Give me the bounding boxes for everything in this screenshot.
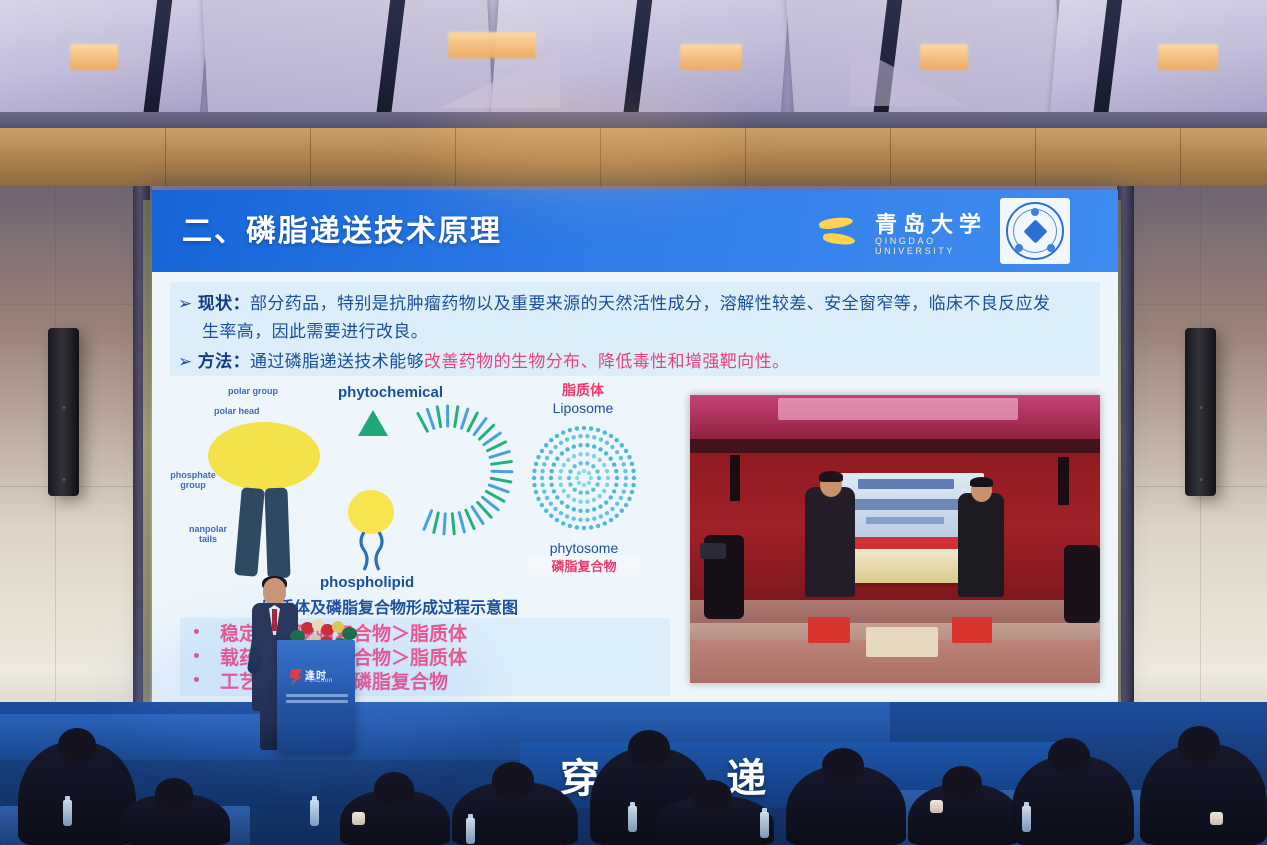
ceiling [0, 0, 1267, 128]
audience-head [58, 728, 96, 762]
university-mark-icon [817, 212, 871, 252]
podium-subtext-1 [286, 694, 348, 697]
label-phytochemical: phytochemical [338, 384, 443, 401]
wood-band [0, 128, 1267, 186]
audience-head [628, 730, 670, 766]
audience-head [1178, 726, 1220, 762]
audience-head [822, 748, 864, 783]
tail-1 [234, 487, 265, 577]
slide-text-panel: ➢ 现状：部分药品，特别是抗肿瘤药物以及重要来源的天然活性成分，溶解性较差、安全… [170, 282, 1100, 376]
text-line-3: ➢ 方法：通过磷脂递送技术能够改善药物的生物分布、降低毒性和增强靶向性。 [178, 347, 789, 372]
gold-trim-left [143, 200, 152, 745]
bilayer-arc-icon [390, 400, 550, 540]
ceremony-photo [690, 395, 1100, 683]
audience-head [492, 762, 534, 798]
label-nonpolar-tails: nanpolar tails [186, 524, 230, 544]
audience-head [942, 766, 982, 800]
label-phosphate-group: phosphate group [168, 470, 218, 490]
liposome-label: 脂质体 Liposome [528, 380, 638, 416]
liposome-vesicle-icon [528, 420, 640, 540]
audience-head [374, 772, 414, 806]
function-swoosh-icon [289, 669, 302, 686]
text-line-2: 生率高，因此需要进行改良。 [202, 317, 428, 342]
tea-cup [930, 800, 943, 813]
podium-brand-en: Function [305, 678, 333, 684]
phospholipid-tails-icon [354, 532, 390, 576]
liposome-en: Liposome [528, 400, 638, 416]
university-logo: 青岛大学 QINGDAO UNIVERSITY [817, 206, 987, 258]
university-name-cn: 青岛大学 [875, 207, 987, 239]
label-polar-head: polar head [214, 406, 260, 416]
polar-head-shape [208, 422, 320, 490]
phytosome-cn: 磷脂复合物 [528, 556, 640, 575]
water-bottle [760, 812, 769, 838]
text-line-1: ➢ 现状：部分药品，特别是抗肿瘤药物以及重要来源的天然活性成分，溶解性较差、安全… [178, 289, 1050, 314]
status-text: 部分药品，特别是抗肿瘤药物以及重要来源的天然活性成分，溶解性较差、安全窗窄等，临… [250, 294, 1050, 313]
loudspeaker-left [48, 328, 79, 496]
liposome-cn: 脂质体 [528, 380, 638, 400]
water-bottle [1022, 806, 1031, 832]
phospholipid-head [348, 490, 394, 534]
water-bottle [310, 800, 319, 826]
water-bottle [63, 800, 72, 826]
method-label: 方法： [198, 352, 250, 371]
podium-subtext-2 [286, 700, 348, 703]
phytosome-label: phytosome 磷脂复合物 [528, 540, 640, 575]
center-emblem-icon [1000, 198, 1070, 264]
diagram-caption: 脂质体及磷脂复合物形成过程示意图 [262, 594, 518, 618]
presenter-tie [272, 609, 277, 631]
audience-head [1048, 738, 1090, 774]
method-highlight: 改善药物的生物分布、降低毒性和增强靶向性。 [424, 352, 789, 371]
status-label: 现状： [198, 294, 250, 313]
presenter-head [263, 578, 286, 605]
tea-cup [1210, 812, 1223, 825]
university-name-en: QINGDAO UNIVERSITY [875, 236, 987, 256]
method-text: 通过磷脂递送技术能够 [250, 352, 424, 371]
loudspeaker-right [1185, 328, 1216, 496]
label-phospholipid: phospholipid [320, 574, 414, 591]
tail-2 [264, 488, 290, 579]
phytochemical-triangle-icon [358, 410, 388, 436]
audience-head [155, 778, 193, 810]
mechanism-diagram: polar group polar head phosphate group n… [170, 382, 670, 612]
conference-hall-scene: 二、磷脂递送技术原理 青岛大学 QINGDAO UNIVERSITY ➢ 现状：… [0, 0, 1267, 845]
bullet-arrow-icon-2: ➢ [178, 352, 193, 371]
water-bottle [466, 818, 475, 844]
audience-head [692, 780, 732, 812]
bullet-arrow-icon: ➢ [178, 294, 193, 313]
slide-title: 二、磷脂递送技术原理 [182, 206, 502, 250]
water-bottle [628, 806, 637, 832]
label-polar-group: polar group [228, 386, 278, 396]
phytosome-en: phytosome [528, 540, 640, 556]
podium-logo: 逢时 Function [289, 668, 345, 688]
tea-cup [352, 812, 365, 825]
